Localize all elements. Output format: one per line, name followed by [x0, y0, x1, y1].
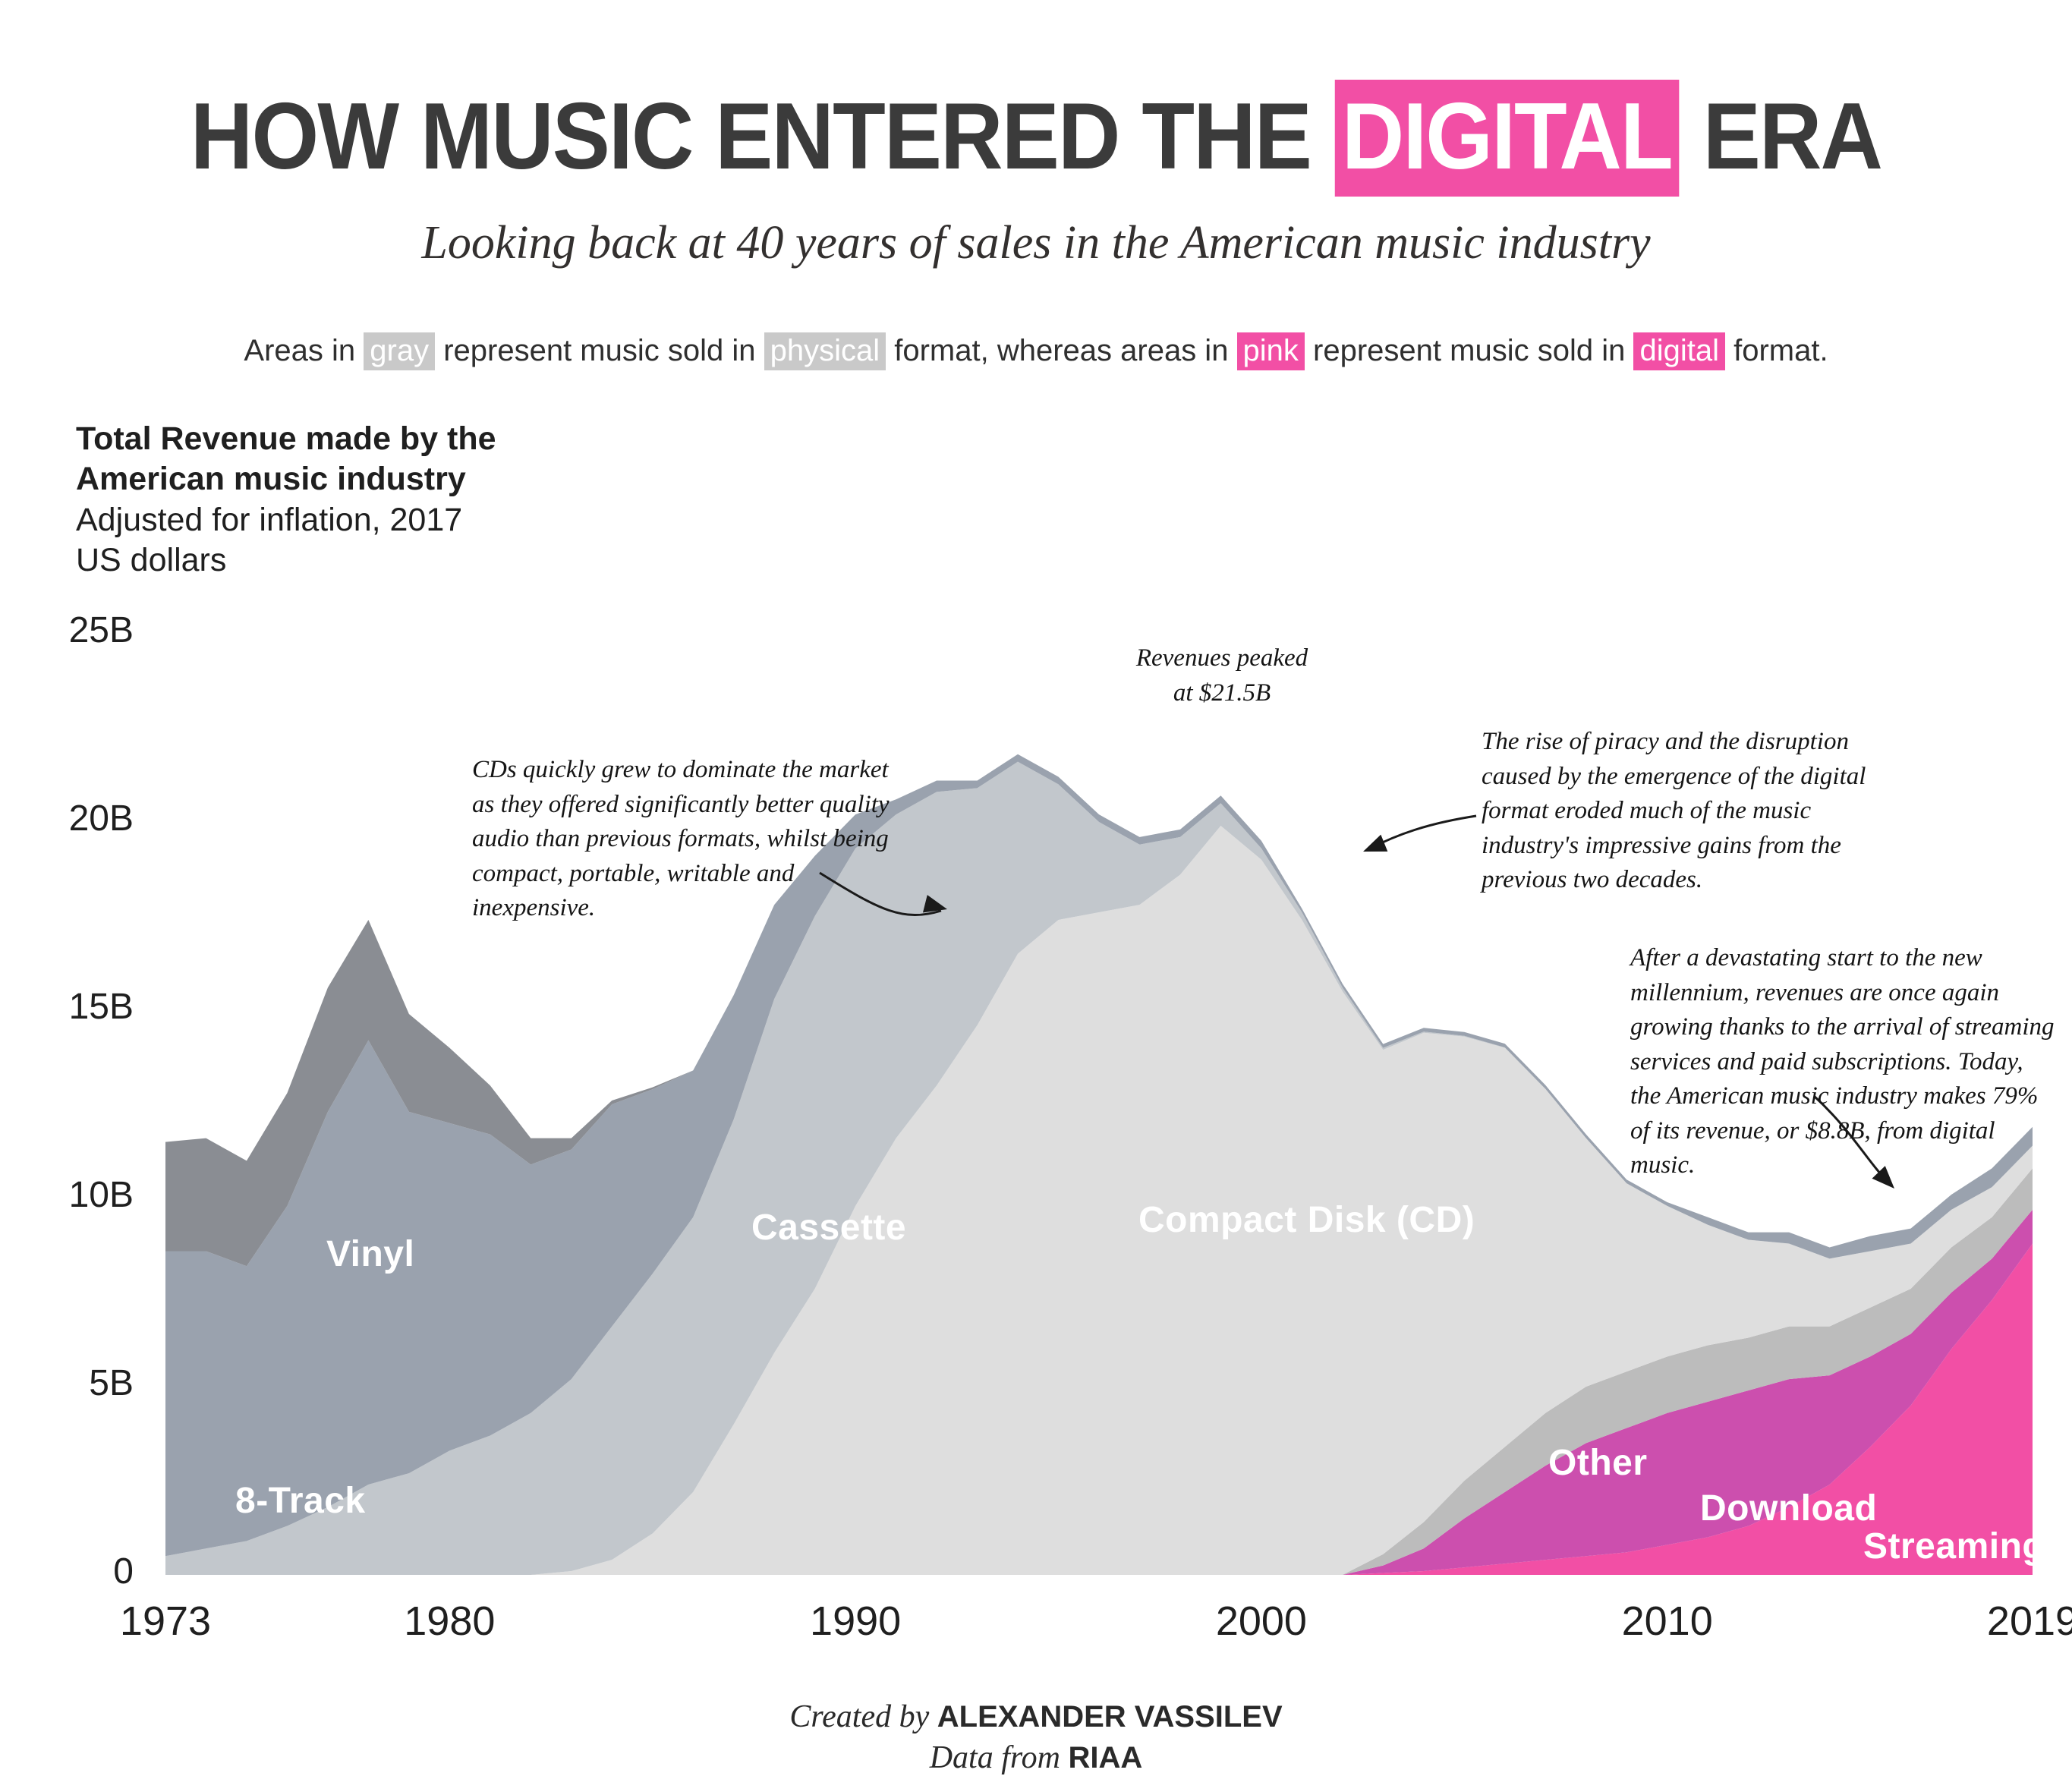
footer-author-name: ALEXANDER VASSILEV [937, 1700, 1283, 1733]
annotation-cd-growth: CDs quickly grew to dominate the market … [472, 753, 908, 926]
annotation-peak: Revenues peaked at $21.5B [1093, 641, 1351, 710]
infographic-page: HOW MUSIC ENTERED THE DIGITAL ERA Lookin… [0, 0, 2072, 1774]
y-tick-15b: 15B [27, 986, 134, 1028]
footer-data-source-name: RIAA [1069, 1741, 1143, 1774]
x-tick-1973: 1973 [67, 1598, 264, 1645]
footer-created-prefix: Created by [789, 1699, 937, 1734]
y-tick-20b: 20B [27, 798, 134, 839]
y-tick-25b: 25B [27, 609, 134, 651]
annotation-peak-line-1: Revenues peaked [1093, 641, 1351, 676]
y-tick-10b: 10B [27, 1174, 134, 1216]
annotation-piracy: The rise of piracy and the disruption ca… [1482, 725, 1907, 898]
series-label-vinyl: Vinyl [326, 1233, 414, 1275]
series-label-cassette: Cassette [751, 1207, 906, 1249]
annotation-arrow-line [1370, 816, 1476, 849]
annotation-streaming-recovery: After a devastating start to the new mil… [1630, 941, 2055, 1183]
annotation-peak-line-2: at $21.5B [1093, 676, 1351, 711]
x-tick-1980: 1980 [351, 1598, 548, 1645]
footer-data-source: Data from RIAA [0, 1740, 2072, 1776]
footer-data-prefix: Data from [930, 1740, 1069, 1775]
series-label-8-track: 8-Track [235, 1480, 366, 1522]
annotation-arrow-head [1360, 835, 1388, 860]
x-tick-2000: 2000 [1163, 1598, 1360, 1645]
footer-created-by: Created by ALEXANDER VASSILEV [0, 1699, 2072, 1735]
x-tick-2010: 2010 [1569, 1598, 1766, 1645]
series-label-download: Download [1700, 1488, 1877, 1529]
series-label-streaming: Streaming [1863, 1526, 2045, 1567]
series-label-other: Other [1548, 1442, 1648, 1484]
x-tick-2019: 2019 [1934, 1598, 2072, 1645]
y-tick-0: 0 [27, 1551, 134, 1592]
x-tick-1990: 1990 [757, 1598, 954, 1645]
series-label-cd: Compact Disk (CD) [1138, 1199, 1475, 1241]
y-tick-5b: 5B [27, 1362, 134, 1404]
